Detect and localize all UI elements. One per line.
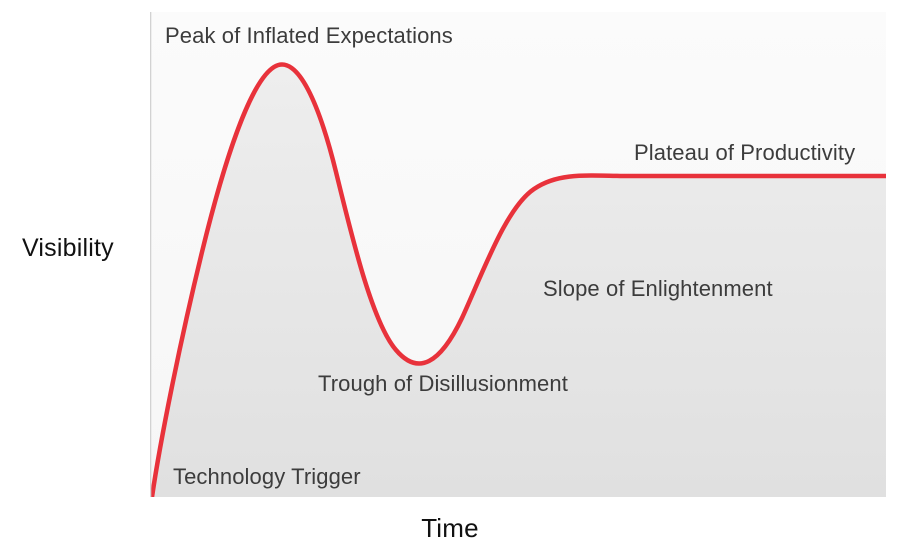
annotation-peak-of-inflated-expectations: Peak of Inflated Expectations (165, 23, 453, 49)
hype-curve-svg (150, 12, 886, 497)
annotation-slope-of-enlightenment: Slope of Enlightenment (543, 276, 773, 302)
y-axis-title: Visibility (22, 234, 114, 263)
annotation-plateau-of-productivity: Plateau of Productivity (634, 140, 855, 166)
annotation-trough-of-disillusionment: Trough of Disillusionment (318, 371, 568, 397)
plot-area (150, 12, 886, 497)
hype-cycle-chart: Visibility Time (0, 0, 900, 557)
annotation-technology-trigger: Technology Trigger (173, 464, 361, 490)
x-axis-title: Time (0, 513, 900, 544)
